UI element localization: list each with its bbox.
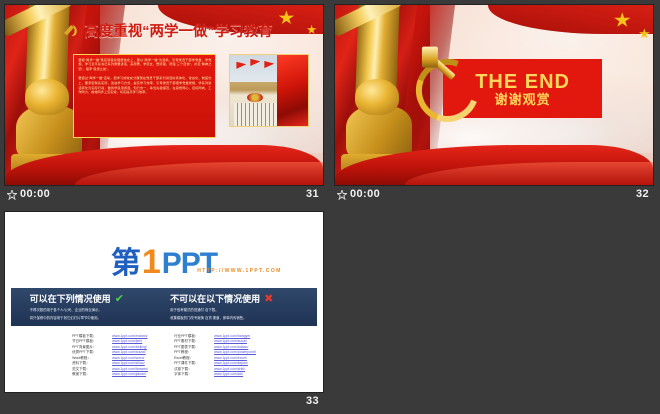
link-label: PPT教程： bbox=[174, 350, 208, 354]
link-label: 资料下载： bbox=[72, 361, 106, 365]
resource-link[interactable]: www.1ppt.com/xiazai/ bbox=[112, 350, 146, 354]
allowed-heading-row: 可以在下列情况使用 ✔ bbox=[30, 292, 170, 305]
slide-number: 32 bbox=[636, 188, 649, 200]
transition-star-icon[interactable] bbox=[7, 190, 17, 200]
forbidden-item: 用于信考模式的范通付 自下载。 bbox=[170, 308, 310, 312]
allowed-item: 将只保修中的内容用于其它幻灯片章节中使用。 bbox=[30, 316, 170, 320]
end-title-en: THE END bbox=[475, 72, 570, 92]
slide-cell-32[interactable]: THE END 谢谢观赏 00:00 32 bbox=[330, 0, 660, 207]
resource-link[interactable]: www.1ppt.com/tubiao/ bbox=[214, 345, 248, 349]
resource-link[interactable]: www.1ppt.com/jiaoan/ bbox=[112, 372, 146, 376]
resource-link[interactable]: www.1ppt.com/kejian/ bbox=[214, 361, 248, 365]
link-label: 教案下载： bbox=[72, 372, 106, 376]
red-flag-icon bbox=[250, 59, 260, 70]
slide-footer-31: 00:00 31 bbox=[5, 186, 323, 204]
slide-thumbnail-31[interactable]: 高度重视“两学一做”学习教育 要把“两学一做”落实到强化理想信念上，要以“两学一… bbox=[5, 5, 323, 185]
link-row: 教案下载：www.1ppt.com/jiaoan/ bbox=[72, 372, 148, 376]
link-label: Word教程： bbox=[72, 356, 106, 360]
link-column: PPT模板下载：www.1ppt.com/moban/节日PPT模板：www.1… bbox=[72, 334, 148, 385]
link-row: Excel教程：www.1ppt.com/excel/ bbox=[174, 356, 256, 360]
allowed-column: 可以在下列情况使用 ✔ 不得次数的用于各个人/公司、企业的商业演示。 将只保修中… bbox=[30, 292, 170, 321]
check-icon: ✔ bbox=[115, 292, 124, 305]
transition-star-icon[interactable] bbox=[337, 190, 347, 200]
resource-link-area: PPT模板下载：www.1ppt.com/moban/节日PPT模板：www.1… bbox=[5, 331, 323, 385]
slide-timing: 00:00 bbox=[20, 188, 50, 200]
link-row: PPT课件下载：www.1ppt.com/kejian/ bbox=[174, 361, 256, 365]
link-row: PPT教程：www.1ppt.com/powerpoint/ bbox=[174, 350, 256, 354]
slide-sorter-panel: 高度重视“两学一做”学习教育 要把“两学一做”落实到强化理想信念上，要以“两学一… bbox=[0, 0, 660, 414]
resource-link[interactable]: www.1ppt.com/ziliao/ bbox=[112, 361, 145, 365]
forbidden-column: 不可以在以下情况使用 ✖ 用于信考模式的范通付 自下载。 收集模板的门改专贩换 … bbox=[170, 292, 310, 321]
link-row: PPT素材下载：www.1ppt.com/sucai/ bbox=[174, 339, 256, 343]
slide-number: 33 bbox=[306, 395, 319, 407]
link-row: PPT模板下载：www.1ppt.com/moban/ bbox=[72, 334, 148, 338]
link-label: PPT背景图片： bbox=[72, 345, 106, 349]
body-paragraph: 要把“两学一做”落实到强化理想信念上，要以“两学一做”为契机，引导党员干部学党章… bbox=[78, 58, 211, 72]
waving-flag bbox=[277, 55, 308, 127]
link-label: PPT模板下载： bbox=[72, 334, 106, 338]
great-hall-photo bbox=[229, 54, 309, 128]
resource-link[interactable]: www.1ppt.com/jieri/ bbox=[112, 339, 142, 343]
end-title-cn: 谢谢观赏 bbox=[495, 93, 551, 106]
link-label: Excel教程： bbox=[174, 356, 208, 360]
forbidden-heading-row: 不可以在以下情况使用 ✖ bbox=[170, 292, 310, 305]
link-label: 优秀PPT下载： bbox=[72, 350, 106, 354]
national-emblem-icon bbox=[247, 93, 263, 103]
resource-link[interactable]: www.1ppt.com/shiti/ bbox=[214, 367, 245, 371]
resource-link[interactable]: www.1ppt.com/hangye/ bbox=[214, 334, 250, 338]
resource-link[interactable]: www.1ppt.com/excel/ bbox=[214, 356, 247, 360]
link-label: PPT课件下载： bbox=[174, 361, 208, 365]
slide-timing: 00:00 bbox=[350, 188, 380, 200]
slide-footer-32: 00:00 32 bbox=[335, 186, 653, 204]
resource-link[interactable]: www.1ppt.com/beijing/ bbox=[112, 345, 147, 349]
slide-timing-group[interactable]: 00:00 bbox=[7, 188, 50, 200]
logo-prefix: 第 bbox=[111, 250, 141, 277]
slide-thumbnail-32[interactable]: THE END 谢谢观赏 bbox=[335, 5, 653, 185]
link-row: 范文下载：www.1ppt.com/fanwen/ bbox=[72, 367, 148, 371]
link-row: 优秀PPT下载：www.1ppt.com/xiazai/ bbox=[72, 350, 148, 354]
hammer-sickle-icon bbox=[411, 55, 471, 116]
slide-cell-33[interactable]: 第 1 PPT HTTP://WWW.1PPT.COM 可以在下列情况使用 ✔ … bbox=[0, 207, 330, 414]
link-label: 字体下载： bbox=[174, 372, 208, 376]
usage-terms-band: 可以在下列情况使用 ✔ 不得次数的用于各个人/公司、企业的商业演示。 将只保修中… bbox=[11, 288, 316, 327]
red-flag-icon bbox=[264, 61, 274, 72]
resource-link[interactable]: www.1ppt.com/word/ bbox=[112, 356, 144, 360]
resource-link[interactable]: www.1ppt.com/moban/ bbox=[112, 334, 147, 338]
link-column: 行业PPT模板：www.1ppt.com/hangye/PPT素材下载：www.… bbox=[174, 334, 256, 385]
resource-link[interactable]: www.1ppt.com/fanwen/ bbox=[112, 367, 148, 371]
link-row: 试卷下载：www.1ppt.com/shiti/ bbox=[174, 367, 256, 371]
body-paragraph: 要通过“两学一做”活动，把学习成效充分展现在党员干部系列讲话的具体化、常态化、制… bbox=[78, 76, 211, 95]
slide-footer-33: 33 bbox=[5, 393, 323, 411]
logo-url: HTTP://WWW.1PPT.COM bbox=[197, 268, 281, 274]
slide-timing-group[interactable]: 00:00 bbox=[337, 188, 380, 200]
page-title: 高度重视“两学一做”学习教育 bbox=[84, 20, 273, 41]
forbidden-item: 收集模板的门改专贩换 百货 渠道，即单内传销售。 bbox=[170, 316, 310, 320]
body-textbox: 要把“两学一做”落实到强化理想信念上，要以“两学一做”为契机，引导党员干部学党章… bbox=[73, 54, 216, 139]
link-row: 字体下载：www.1ppt.com/ziti/ bbox=[174, 372, 256, 376]
link-row: 节日PPT模板：www.1ppt.com/jieri/ bbox=[72, 339, 148, 343]
allowed-item: 不得次数的用于各个人/公司、企业的商业演示。 bbox=[30, 308, 170, 312]
slide-cell-31[interactable]: 高度重视“两学一做”学习教育 要把“两学一做”落实到强化理想信念上，要以“两学一… bbox=[0, 0, 330, 207]
link-row: Word教程：www.1ppt.com/word/ bbox=[72, 356, 148, 360]
slide-title-block: 高度重视“两学一做”学习教育 bbox=[62, 16, 310, 45]
resource-link[interactable]: www.1ppt.com/ziti/ bbox=[214, 372, 243, 376]
resource-link[interactable]: www.1ppt.com/powerpoint/ bbox=[214, 350, 256, 354]
link-label: 范文下载： bbox=[72, 367, 106, 371]
party-emblem-icon bbox=[62, 23, 79, 37]
allowed-heading: 可以在下列情况使用 bbox=[30, 292, 111, 305]
slide-thumbnail-33[interactable]: 第 1 PPT HTTP://WWW.1PPT.COM 可以在下列情况使用 ✔ … bbox=[5, 212, 323, 392]
link-row: 行业PPT模板：www.1ppt.com/hangye/ bbox=[174, 334, 256, 338]
slide-number: 31 bbox=[306, 188, 319, 200]
cross-icon: ✖ bbox=[264, 292, 273, 305]
red-flag-icon bbox=[236, 62, 246, 73]
link-row: PPT背景图片：www.1ppt.com/beijing/ bbox=[72, 345, 148, 349]
forbidden-heading: 不可以在以下情况使用 bbox=[170, 292, 260, 305]
resource-link[interactable]: www.1ppt.com/sucai/ bbox=[214, 339, 247, 343]
link-label: PPT图表下载： bbox=[174, 345, 208, 349]
logo-digit: 1 bbox=[142, 249, 161, 277]
link-label: 行业PPT模板： bbox=[174, 334, 208, 338]
link-label: PPT素材下载： bbox=[174, 339, 208, 343]
link-label: 节日PPT模板： bbox=[72, 339, 106, 343]
link-row: 资料下载：www.1ppt.com/ziliao/ bbox=[72, 361, 148, 365]
link-row: PPT图表下载：www.1ppt.com/tubiao/ bbox=[174, 345, 256, 349]
link-label: 试卷下载： bbox=[174, 367, 208, 371]
